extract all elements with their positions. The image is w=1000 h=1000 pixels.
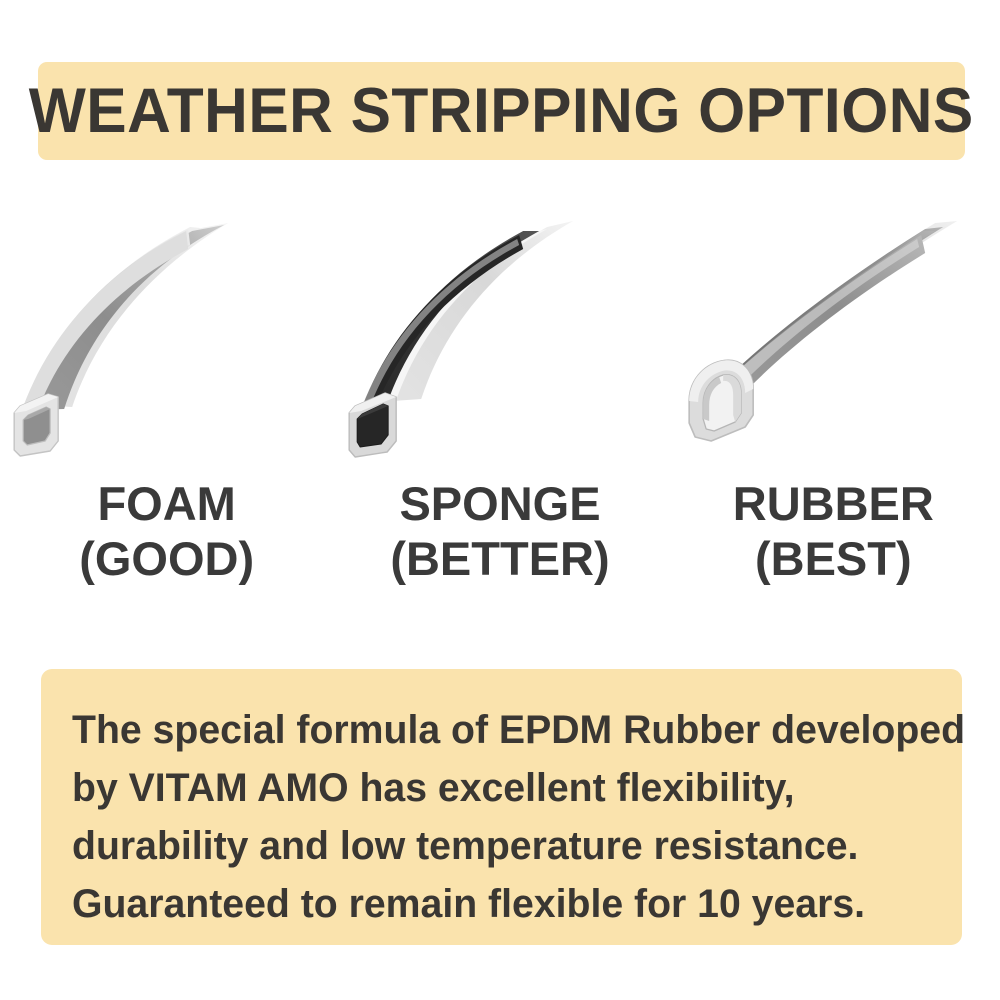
sponge-strip-icon bbox=[333, 205, 666, 495]
product-rating-foam: (GOOD) bbox=[0, 531, 333, 586]
rubber-strip-icon bbox=[667, 205, 1000, 495]
description-line-4: Guaranteed to remain flexible for 10 yea… bbox=[72, 875, 944, 933]
product-label-foam: FOAM (GOOD) bbox=[0, 476, 333, 587]
foam-strip-icon bbox=[0, 205, 333, 495]
product-rating-sponge: (BETTER) bbox=[333, 531, 666, 586]
product-figure-foam bbox=[0, 205, 333, 495]
product-name-rubber: RUBBER bbox=[667, 476, 1000, 531]
product-figure-sponge bbox=[333, 205, 666, 495]
product-label-rubber: RUBBER (BEST) bbox=[667, 476, 1000, 587]
title-banner: WEATHER STRIPPING OPTIONS bbox=[38, 62, 965, 160]
product-rating-rubber: (BEST) bbox=[667, 531, 1000, 586]
product-name-sponge: SPONGE bbox=[333, 476, 666, 531]
product-labels-row: FOAM (GOOD) SPONGE (BETTER) RUBBER (BEST… bbox=[0, 476, 1000, 587]
description-line-3: durability and low temperature resistanc… bbox=[72, 817, 944, 875]
product-figure-rubber bbox=[667, 205, 1000, 495]
page-title: WEATHER STRIPPING OPTIONS bbox=[29, 80, 974, 143]
description-panel: The special formula of EPDM Rubber devel… bbox=[41, 669, 962, 945]
description-line-1: The special formula of EPDM Rubber devel… bbox=[72, 701, 944, 759]
product-name-foam: FOAM bbox=[0, 476, 333, 531]
description-line-2: by VITAM AMO has excellent flexibility, bbox=[72, 759, 944, 817]
product-label-sponge: SPONGE (BETTER) bbox=[333, 476, 666, 587]
product-images-row bbox=[0, 205, 1000, 495]
